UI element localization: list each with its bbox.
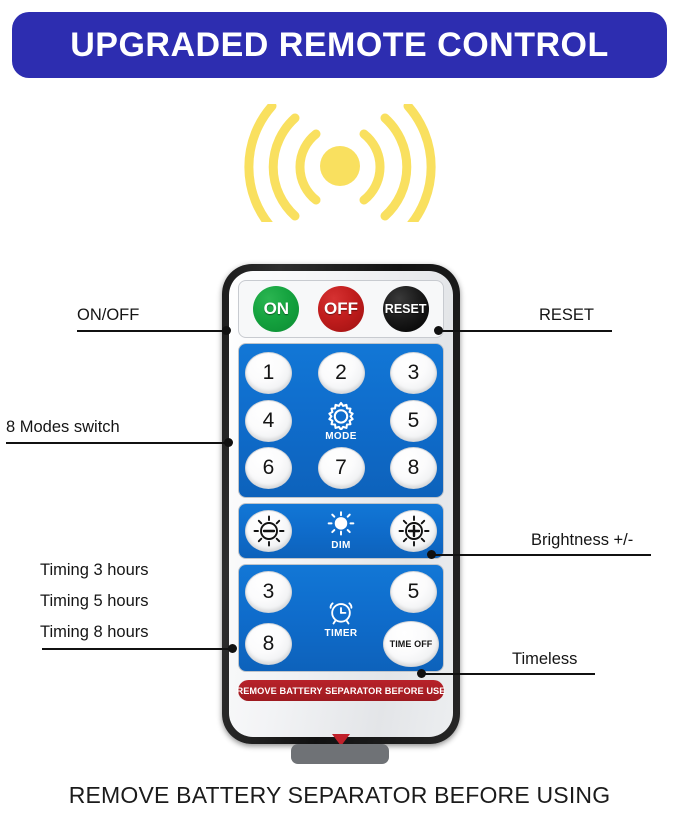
annotation-on-off: ON/OFF xyxy=(77,306,139,325)
on-button[interactable]: ON xyxy=(253,286,299,332)
mode-label: MODE xyxy=(325,431,357,442)
annotation-timing-3: Timing 3 hours xyxy=(40,561,149,580)
timer-5-hours-button[interactable]: 5 xyxy=(390,571,437,613)
power-button-panel: ON OFF RESET xyxy=(238,280,444,338)
keypad-row-1: 1 2 3 xyxy=(245,352,437,394)
battery-separator-tab xyxy=(291,744,389,764)
leader-dot-modes xyxy=(224,438,233,447)
brightness-plus-icon xyxy=(397,514,431,548)
leader-line-on-off xyxy=(77,330,226,332)
remote-faceplate: ON OFF RESET 1 2 3 4 xyxy=(229,271,453,737)
dim-indicator: DIM xyxy=(314,511,368,551)
sun-icon xyxy=(326,511,356,539)
key-7[interactable]: 7 xyxy=(318,447,365,489)
leader-line-reset xyxy=(440,330,612,332)
leader-line-modes xyxy=(6,442,228,444)
off-button[interactable]: OFF xyxy=(318,286,364,332)
timer-3-hours-button[interactable]: 3 xyxy=(245,571,292,613)
leader-dot-timeless xyxy=(417,669,426,678)
key-8[interactable]: 8 xyxy=(390,447,437,489)
wireless-signal-icon xyxy=(238,104,442,222)
leader-dot-timing xyxy=(228,644,237,653)
alarm-clock-icon xyxy=(325,597,357,627)
timer-8-hours-button[interactable]: 8 xyxy=(245,623,292,665)
time-off-button[interactable]: TIME OFF xyxy=(383,621,439,667)
key-1[interactable]: 1 xyxy=(245,352,292,394)
keypad-row-3: 6 7 8 xyxy=(245,447,437,489)
gear-icon xyxy=(326,400,356,430)
key-2[interactable]: 2 xyxy=(318,352,365,394)
timer-label: TIMER xyxy=(324,628,357,639)
annotation-reset: RESET xyxy=(539,306,594,325)
mode-button[interactable]: MODE xyxy=(314,400,368,442)
annotation-timing-5: Timing 5 hours xyxy=(40,592,149,611)
leader-line-brightness xyxy=(432,554,651,556)
leader-dot-reset xyxy=(434,326,443,335)
key-3[interactable]: 3 xyxy=(390,352,437,394)
leader-dot-brightness xyxy=(427,550,436,559)
brightness-panel: DIM xyxy=(238,503,444,559)
timer-grid: 3 5 8 TIME OFF xyxy=(245,568,437,668)
brightness-plus-button[interactable] xyxy=(390,510,437,552)
key-5[interactable]: 5 xyxy=(390,400,437,442)
timer-indicator: TIMER xyxy=(314,597,368,639)
product-infographic: UPGRADED REMOTE CONTROL ON OFF RESET 1 xyxy=(0,0,679,818)
battery-warning-pill: REMOVE BATTERY SEPARATOR BEFORE USE xyxy=(238,680,444,701)
annotation-modes-switch: 8 Modes switch xyxy=(6,418,120,437)
dim-label: DIM xyxy=(331,540,351,551)
annotation-timeless: Timeless xyxy=(512,650,577,669)
leader-line-timing xyxy=(42,648,232,650)
reset-button[interactable]: RESET xyxy=(383,286,429,332)
key-4[interactable]: 4 xyxy=(245,400,292,442)
annotation-brightness: Brightness +/- xyxy=(531,531,633,550)
banner-title: UPGRADED REMOTE CONTROL xyxy=(70,26,609,65)
annotation-timing-8: Timing 8 hours xyxy=(40,623,149,642)
brightness-minus-icon xyxy=(252,514,286,548)
leader-dot-on-off xyxy=(222,326,231,335)
keypad-row-2: 4 MODE 5 xyxy=(245,400,437,442)
key-6[interactable]: 6 xyxy=(245,447,292,489)
mode-keypad-panel: 1 2 3 4 MODE 5 xyxy=(238,343,444,498)
leader-line-timeless xyxy=(423,673,595,675)
header-banner: UPGRADED REMOTE CONTROL xyxy=(12,12,667,78)
timer-panel: 3 5 8 TIME OFF xyxy=(238,564,444,672)
brightness-minus-button[interactable] xyxy=(245,510,292,552)
bottom-caption: REMOVE BATTERY SEPARATOR BEFORE USING xyxy=(0,782,679,809)
